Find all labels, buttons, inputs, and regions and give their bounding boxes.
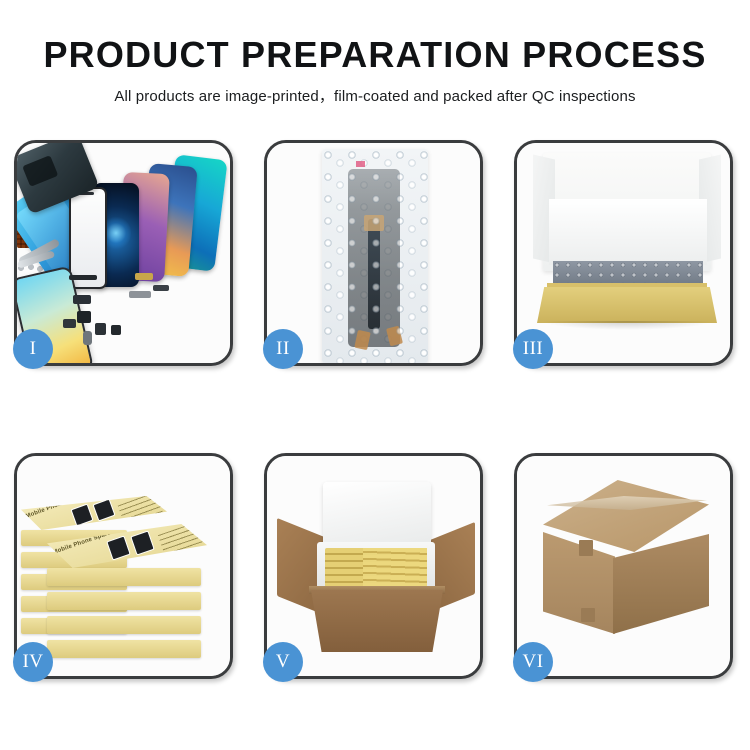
- box-art-screen-4: [130, 530, 154, 555]
- stacked-box: [47, 616, 201, 634]
- step-panel-2: II: [264, 140, 483, 366]
- part-flex-cable: [153, 285, 169, 291]
- step-badge-5: V: [263, 642, 303, 682]
- step-2-image: [267, 143, 480, 363]
- stacked-box: [47, 568, 201, 586]
- step-badge-6-label: VI: [522, 651, 543, 673]
- part-speaker-mesh: [69, 275, 97, 280]
- box-spec-lines-2: [158, 522, 204, 560]
- part-connector: [73, 295, 91, 304]
- carton-seam-bottom: [581, 608, 595, 622]
- step-panel-1: I: [14, 140, 233, 366]
- step-badge-2: II: [263, 329, 303, 369]
- box-lid-top-rear: Mobile Phone Spare Parts: [21, 496, 167, 530]
- step-panel-5: V: [264, 453, 483, 679]
- part-camera: [95, 323, 106, 335]
- yellow-box-tray-icon: [537, 287, 717, 323]
- steps-grid: I II: [14, 140, 736, 680]
- step-5-image: [267, 456, 480, 676]
- box-art-screen-2: [92, 498, 115, 521]
- white-foam-sheet-icon: [549, 199, 707, 265]
- carton-seam-top: [579, 540, 593, 556]
- step-6-image: [517, 456, 730, 676]
- box-art-screen-3: [106, 535, 130, 560]
- stacked-box: [47, 592, 201, 610]
- step-panel-3: III: [514, 140, 733, 366]
- header: PRODUCT PREPARATION PROCESS All products…: [0, 0, 750, 106]
- page-subtitle: All products are image-printed，film-coat…: [0, 85, 750, 106]
- step-panel-6: VI: [514, 453, 733, 679]
- part-flex-gold: [135, 273, 153, 280]
- stacked-box: [47, 640, 201, 658]
- step-badge-4: IV: [13, 642, 53, 682]
- carton-body-icon: [311, 590, 443, 652]
- part-ic-chip: [111, 325, 121, 335]
- box-art-screen-1: [70, 503, 93, 526]
- foam-lid-icon: [323, 482, 431, 548]
- box-spec-lines-1: [118, 492, 164, 530]
- step-badge-2-label: II: [276, 338, 290, 360]
- part-vibrator: [63, 319, 76, 328]
- box-shadow: [541, 321, 713, 330]
- step-badge-6: VI: [513, 642, 553, 682]
- step-badge-5-label: V: [276, 651, 290, 673]
- step-panel-4: Mobile Phone Spare Parts Mobile Phone Sp…: [14, 453, 233, 679]
- step-1-image: [17, 143, 230, 363]
- part-module: [77, 311, 91, 323]
- step-badge-4-label: IV: [22, 651, 43, 673]
- step-badge-1-label: I: [30, 338, 37, 360]
- phone-screen-white: [69, 187, 107, 289]
- page-title: PRODUCT PREPARATION PROCESS: [0, 36, 750, 74]
- step-4-image: Mobile Phone Spare Parts Mobile Phone Sp…: [17, 456, 230, 676]
- part-sim-tray: [83, 331, 92, 345]
- step-badge-3: III: [513, 329, 553, 369]
- step-3-image: [517, 143, 730, 363]
- bubble-texture-overlay: [322, 149, 428, 363]
- step-badge-1: I: [13, 329, 53, 369]
- step-badge-3-label: III: [523, 338, 543, 360]
- product-preparation-infographic: PRODUCT PREPARATION PROCESS All products…: [0, 0, 750, 750]
- part-antenna-strip: [129, 291, 151, 298]
- bubble-wrap-bag-icon: [322, 149, 428, 363]
